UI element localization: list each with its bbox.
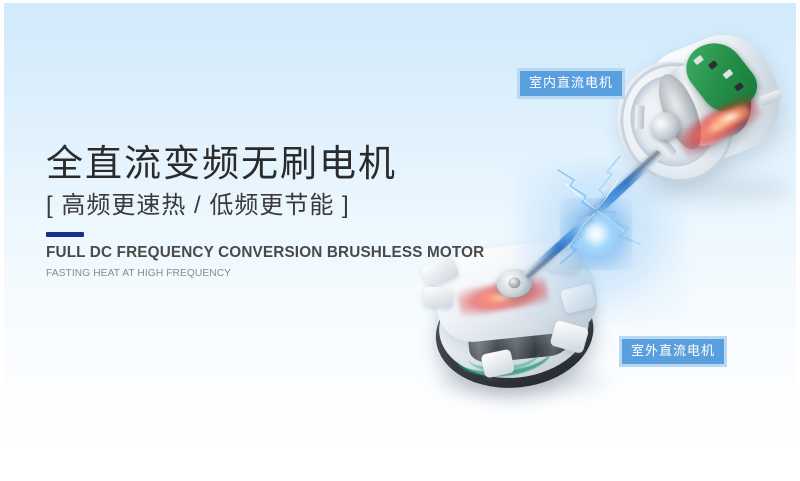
motor-internal-vane [635,105,645,129]
english-subtitle: FASTING HEAT AT HIGH FREQUENCY [46,267,484,280]
headline-block: 全直流变频无刷电机 [ 高频更速热 / 低频更节能 ] FULL DC FREQ… [46,142,484,280]
page-title: 全直流变频无刷电机 [46,142,484,186]
label-indoor-dc-motor: 室内直流电机 [517,68,625,99]
fan-mount-arm [423,286,454,308]
english-title: FULL DC FREQUENCY CONVERSION BRUSHLESS M… [46,244,484,262]
label-outdoor-dc-motor: 室外直流电机 [619,336,727,367]
accent-divider [46,232,84,237]
page-subtitle: [ 高频更速热 / 低频更节能 ] [46,190,484,222]
product-feature-banner: 全直流变频无刷电机 [ 高频更速热 / 低频更节能 ] FULL DC FREQ… [0,0,800,481]
spark-core-flash [560,198,632,270]
